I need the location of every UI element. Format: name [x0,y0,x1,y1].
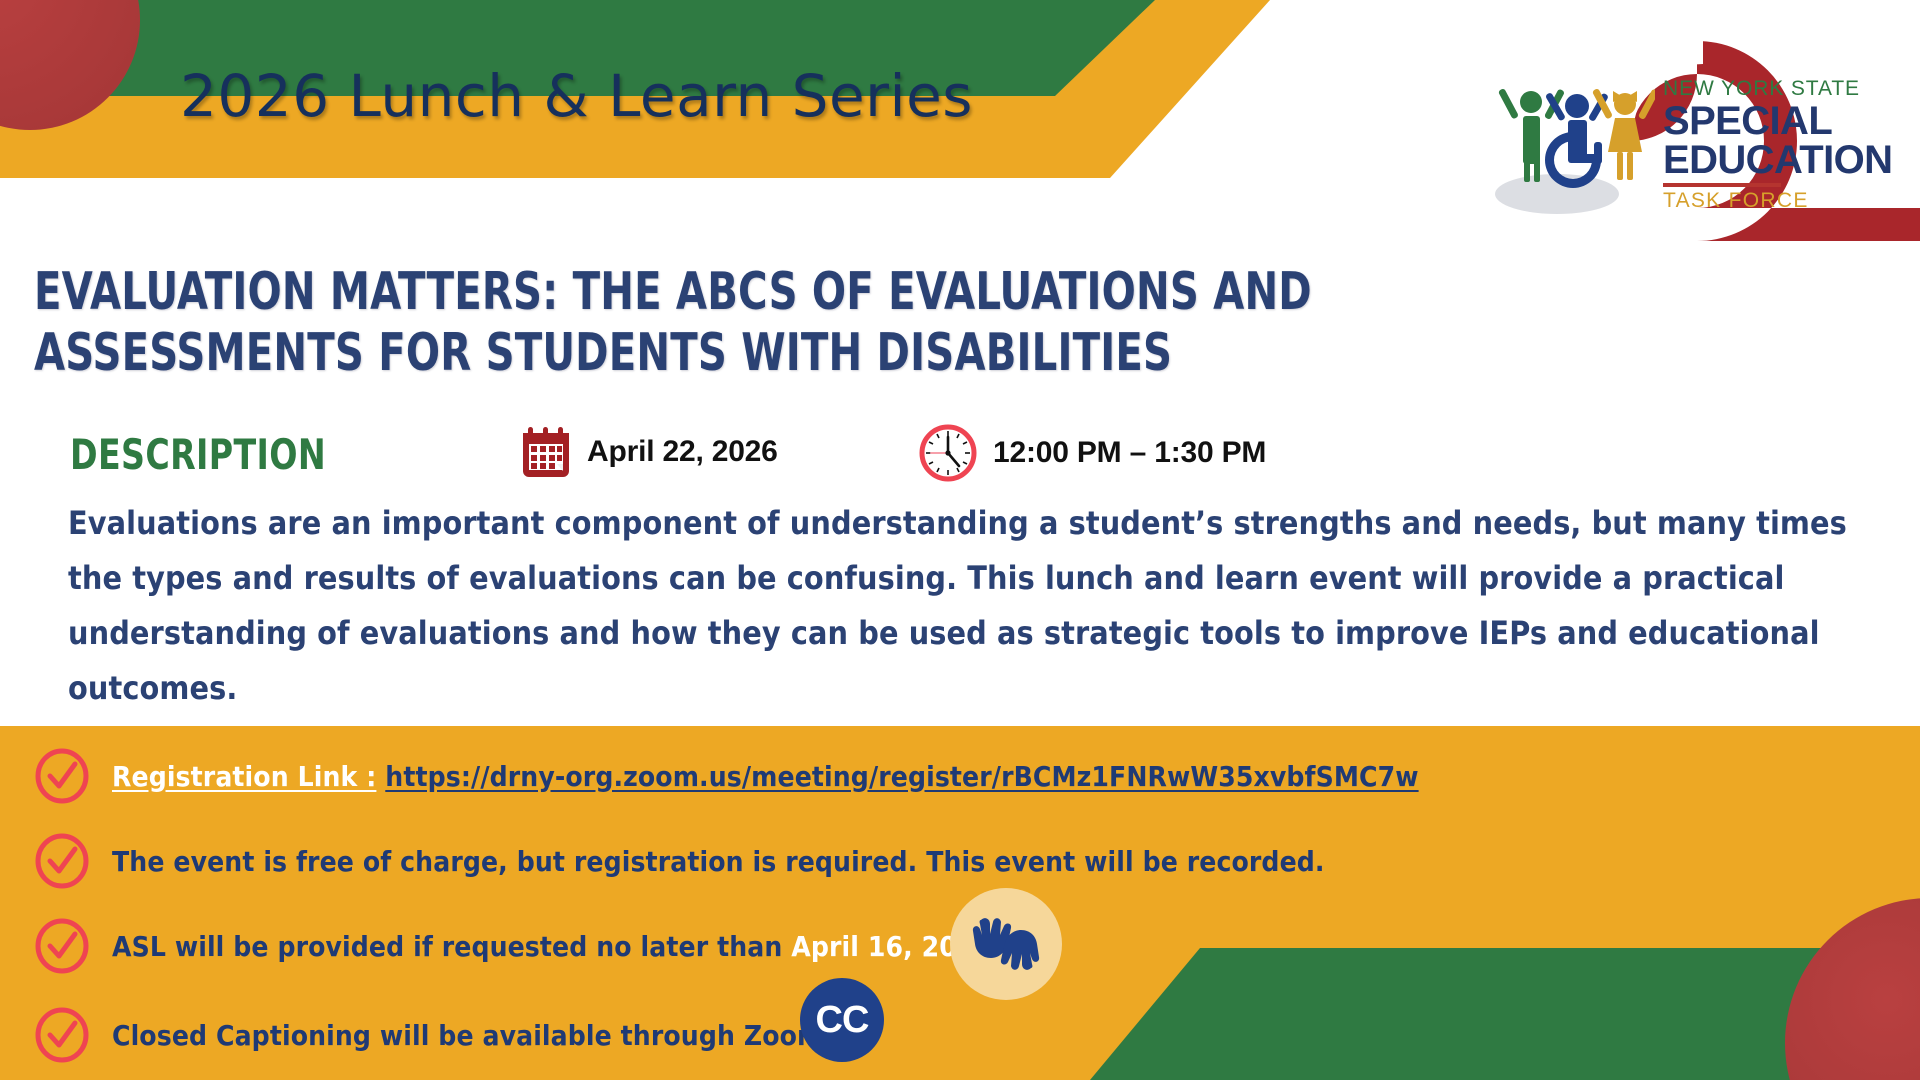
check-circle-icon [34,748,90,804]
event-date: April 22, 2026 [587,435,778,469]
description-body: Evaluations are an important component o… [68,496,1858,716]
bullet-closed-captioning: Closed Captioning will be available thro… [34,1007,823,1063]
event-meta-row: DESCRIPTION April 22, 2026 [34,428,1434,490]
registration-label: Registration Link : [112,760,376,793]
bullet-registration-link[interactable]: Registration Link : https://drny-org.zoo… [34,748,1419,804]
closed-captioning-text: Closed Captioning will be available thro… [112,1019,823,1052]
event-title: Evaluation Matters: The ABCs of Evaluati… [34,262,1591,385]
free-of-charge-text: The event is free of charge, but registr… [112,845,1325,878]
asl-text: ASL will be provided if requested no lat… [112,930,992,963]
poster-canvas: 2026 Lunch & Learn Series [0,0,1920,1080]
registration-url[interactable]: https://drny-org.zoom.us/meeting/registe… [385,760,1418,793]
calendar-icon [519,424,573,480]
bottom-red-circle-decoration [1785,898,1920,1080]
check-circle-icon [34,833,90,889]
asl-prefix: ASL will be provided if requested no lat… [112,930,782,963]
event-date-block: April 22, 2026 [519,424,778,480]
logo-line-new-york-state: NEW YORK STATE [1663,78,1920,99]
clock-icon [919,424,977,482]
logo-line-task-force: TASK FORCE [1663,190,1920,211]
sign-language-hands-icon [969,912,1043,976]
logo-text-block: NEW YORK STATE SPECIAL EDUCATION TASK FO… [1663,78,1920,211]
closed-caption-badge: CC [800,978,884,1062]
check-circle-icon [34,1007,90,1063]
description-heading: DESCRIPTION [70,430,326,479]
registration-line: Registration Link : https://drny-org.zoo… [112,760,1419,793]
cc-badge-label: CC [816,999,869,1042]
check-circle-icon [34,918,90,974]
logo-divider [1663,183,1781,187]
event-time-block: 12:00 PM – 1:30 PM [919,424,1266,482]
logo-line-special: SPECIAL [1663,102,1920,141]
nysetf-logo: NEW YORK STATE SPECIAL EDUCATION TASK FO… [1345,8,1920,258]
event-time: 12:00 PM – 1:30 PM [993,436,1266,470]
logo-line-education: EDUCATION [1663,141,1920,180]
logo-people-icon [1495,80,1655,190]
bullet-free-of-charge: The event is free of charge, but registr… [34,833,1325,889]
series-title: 2026 Lunch & Learn Series [180,62,973,130]
bullet-asl: ASL will be provided if requested no lat… [34,918,992,974]
asl-badge [950,888,1062,1000]
details-panel: Registration Link : https://drny-org.zoo… [0,726,1920,1080]
